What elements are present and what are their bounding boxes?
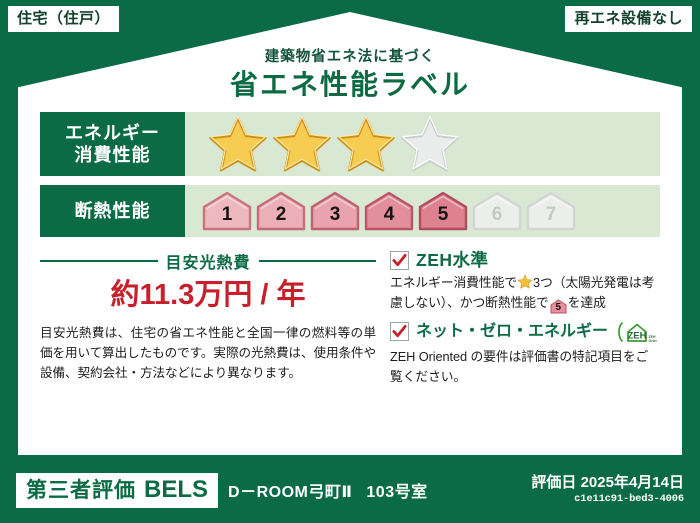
svg-text:Oriented: Oriented: [649, 339, 658, 343]
energy-cost-amount: 約11.3万円 / 年: [40, 280, 376, 312]
zeh-oriented-logo-icon: ZEH ZEH Oriented: [617, 320, 657, 344]
insulation-level-filled: 1: [201, 190, 253, 232]
star-icon-empty: [399, 115, 461, 173]
svg-text:ZEH: ZEH: [628, 330, 647, 341]
evaluation-id: c1e11c91-bed3-4006: [531, 493, 684, 505]
renewable-equipment-badge: 再エネ設備なし: [565, 6, 692, 32]
insulation-level-number: 6: [492, 205, 503, 232]
star-icon-filled: [335, 115, 397, 173]
claim-zeh-standard: ZEH水準 エネルギー消費性能で3つ（太陽光発電は考慮しない）、かつ断熱性能で5…: [390, 251, 660, 314]
insulation-level-scale: 1234567: [201, 190, 577, 232]
insulation-level-icon-num: 5: [550, 299, 567, 316]
label-sheet: 建築物省エネ法に基づく 省エネ性能ラベル エネルギー 消費性能 断熱性能 123…: [18, 12, 682, 455]
insulation-level-filled: 4: [363, 190, 415, 232]
energy-cost-heading: 目安光熱費: [40, 249, 376, 273]
star-icon: [517, 274, 533, 290]
claim-net-zero-energy-title: ネット・ゼロ・エネルギー: [416, 324, 608, 340]
building-name: D－ROOM弓町Ⅱ: [228, 478, 352, 502]
energy-label-line2: 消費性能: [75, 144, 151, 167]
energy-performance-label: 住宅（住戸） 再エネ設備なし 建築物省エネ法に基づく 省エネ性能ラベル エネルギ…: [0, 0, 700, 523]
rule-right: [259, 260, 377, 262]
claim-net-zero-energy: ネット・ゼロ・エネルギー ZEH ZEH Oriented: [390, 320, 660, 387]
claims-column: ZEH水準 エネルギー消費性能で3つ（太陽光発電は考慮しない）、かつ断熱性能で5…: [390, 249, 660, 392]
footer-right: 評価日 2025年4月14日 c1e11c91-bed3-4006: [531, 475, 684, 506]
rule-left: [40, 260, 158, 262]
claim-body-part3: を達成: [568, 295, 606, 310]
insulation-performance-value: 1234567: [185, 185, 660, 237]
claim-zeh-standard-title: ZEH水準: [416, 252, 489, 270]
evaluation-date: 評価日 2025年4月14日: [531, 475, 684, 492]
claim-body-part1: エネルギー消費性能で: [390, 275, 517, 290]
insulation-level-filled: 5: [417, 190, 469, 232]
lower-section: 目安光熱費 約11.3万円 / 年 目安光熱費は、住宅の省エネ性能と全国一律の燃…: [40, 249, 660, 392]
star-rating: [207, 115, 461, 173]
insulation-level-icon: 5: [550, 299, 567, 314]
bels-logo-text: BELS: [144, 478, 208, 502]
energy-cost-column: 目安光熱費 約11.3万円 / 年 目安光熱費は、住宅の省エネ性能と全国一律の燃…: [40, 249, 376, 392]
footer: 第三者評価 BELS D－ROOM弓町Ⅱ 103号室 評価日 2025年4月14…: [0, 457, 700, 523]
claim-zeh-standard-body: エネルギー消費性能で3つ（太陽光発電は考慮しない）、かつ断熱性能で5を達成: [390, 273, 660, 314]
insulation-level-number: 3: [330, 205, 341, 232]
energy-cost-note: 目安光熱費は、住宅の省エネ性能と全国一律の燃料等の単価を用いて算出したものです。…: [40, 324, 376, 384]
insulation-level-empty: 7: [525, 190, 577, 232]
bels-badge: 第三者評価 BELS: [16, 473, 218, 508]
insulation-label-text: 断熱性能: [75, 200, 151, 223]
insulation-performance-row: 断熱性能 1234567: [40, 185, 660, 237]
checkbox-checked-icon[interactable]: [390, 251, 409, 270]
insulation-level-filled: 3: [309, 190, 361, 232]
label-subtitle: 建築物省エネ法に基づく: [40, 50, 660, 66]
energy-performance-label: エネルギー 消費性能: [40, 112, 185, 176]
insulation-level-number: 7: [546, 205, 557, 232]
svg-text:ZEH: ZEH: [649, 335, 656, 339]
insulation-level-empty: 6: [471, 190, 523, 232]
star-icon-filled: [207, 115, 269, 173]
insulation-level-number: 1: [222, 205, 233, 232]
claim-zeh-standard-head: ZEH水準: [390, 251, 660, 270]
building-type-badge: 住宅（住戸）: [8, 6, 119, 32]
insulation-level-number: 2: [276, 205, 287, 232]
insulation-performance-label: 断熱性能: [40, 185, 185, 237]
energy-label-line1: エネルギー: [65, 122, 160, 145]
claim-net-zero-energy-head: ネット・ゼロ・エネルギー ZEH ZEH Oriented: [390, 320, 660, 344]
checkbox-checked-icon[interactable]: [390, 322, 409, 341]
room-number: 103号室: [366, 478, 427, 502]
third-party-eval-label: 第三者評価: [26, 480, 136, 501]
energy-performance-value: [185, 112, 660, 176]
page-title: 省エネ性能ラベル: [40, 69, 660, 101]
insulation-level-number: 5: [438, 205, 449, 232]
insulation-level-filled: 2: [255, 190, 307, 232]
energy-cost-heading-text: 目安光熱費: [166, 249, 251, 273]
insulation-level-number: 4: [384, 205, 395, 232]
star-icon-filled: [271, 115, 333, 173]
energy-performance-row: エネルギー 消費性能: [40, 112, 660, 176]
claim-net-zero-energy-body: ZEH Oriented の要件は評価書の特記項目をご覧ください。: [390, 347, 660, 387]
